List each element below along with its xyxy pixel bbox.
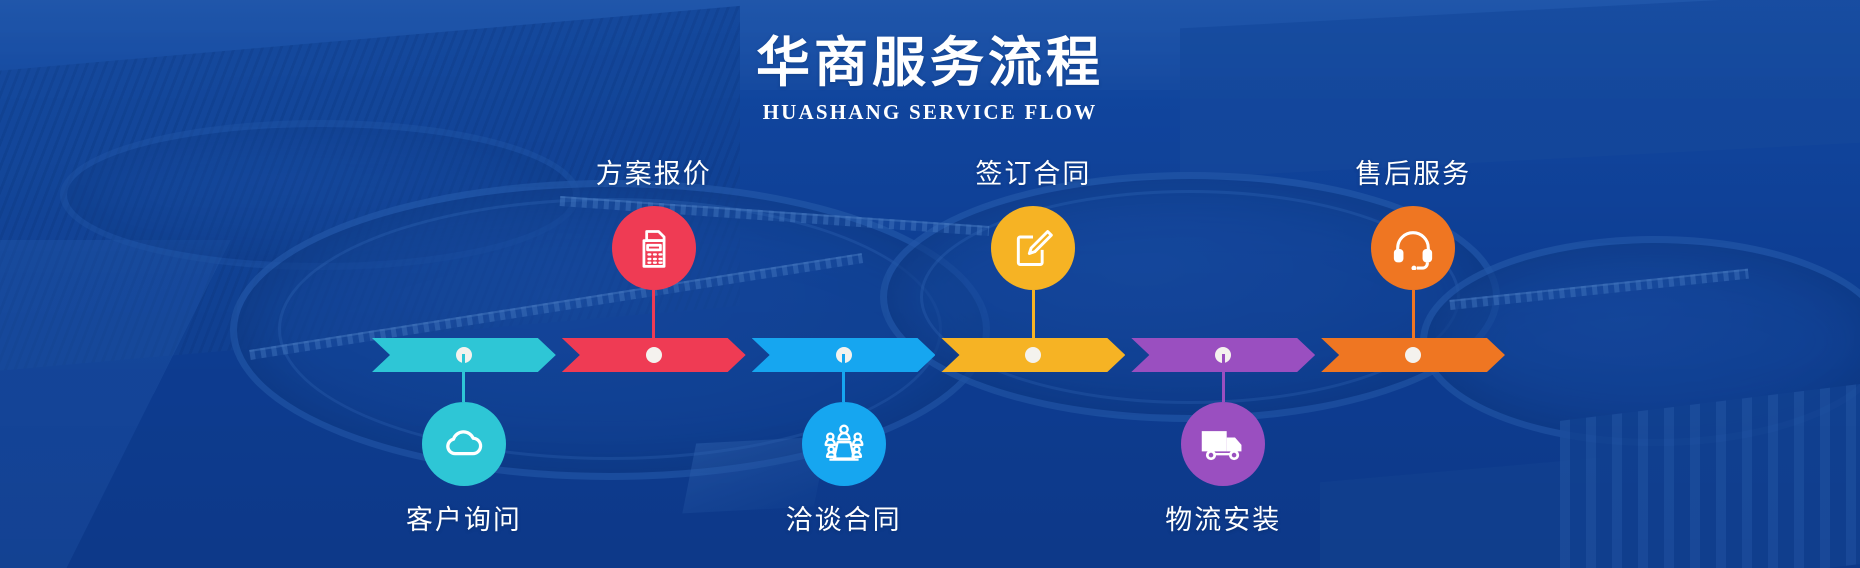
flow-step-label: 方案报价 xyxy=(596,152,712,191)
flow-step-connector xyxy=(1222,354,1225,402)
flow-step-connector xyxy=(652,290,655,338)
flow-step-label: 售后服务 xyxy=(1355,152,1471,191)
flow-step-connector xyxy=(462,354,465,402)
sign-pen-icon[interactable] xyxy=(991,206,1075,290)
flow-step-1[interactable]: 客户询问 xyxy=(364,338,564,372)
flow-step-label: 物流安装 xyxy=(1165,498,1281,537)
flow-step-5[interactable]: 物流安装 xyxy=(1123,338,1323,372)
flow-step-connector xyxy=(1412,290,1415,338)
flow-step-3[interactable]: 洽谈合同 xyxy=(744,338,944,372)
page-subtitle: HUASHANG SERVICE FLOW xyxy=(0,100,1860,125)
page-title: 华商服务流程 xyxy=(0,18,1860,97)
flow-step-connector xyxy=(1032,290,1035,338)
flow-step-label: 洽谈合同 xyxy=(786,498,902,537)
delivery-truck-icon[interactable] xyxy=(1181,402,1265,486)
flow-step-label: 客户询问 xyxy=(406,498,522,537)
cloud-icon[interactable] xyxy=(422,402,506,486)
flow-step-2[interactable]: 方案报价 xyxy=(554,338,754,372)
calculator-quote-icon[interactable] xyxy=(612,206,696,290)
flow-step-connector xyxy=(842,354,845,402)
service-flow-banner: 华商服务流程 HUASHANG SERVICE FLOW 客户询问方案报价洽谈合… xyxy=(0,0,1860,568)
meeting-people-icon[interactable] xyxy=(802,402,886,486)
flow-step-label: 签订合同 xyxy=(975,152,1091,191)
flow-step-6[interactable]: 售后服务 xyxy=(1313,338,1513,372)
headset-support-icon[interactable] xyxy=(1371,206,1455,290)
flow-step-4[interactable]: 签订合同 xyxy=(933,338,1133,372)
